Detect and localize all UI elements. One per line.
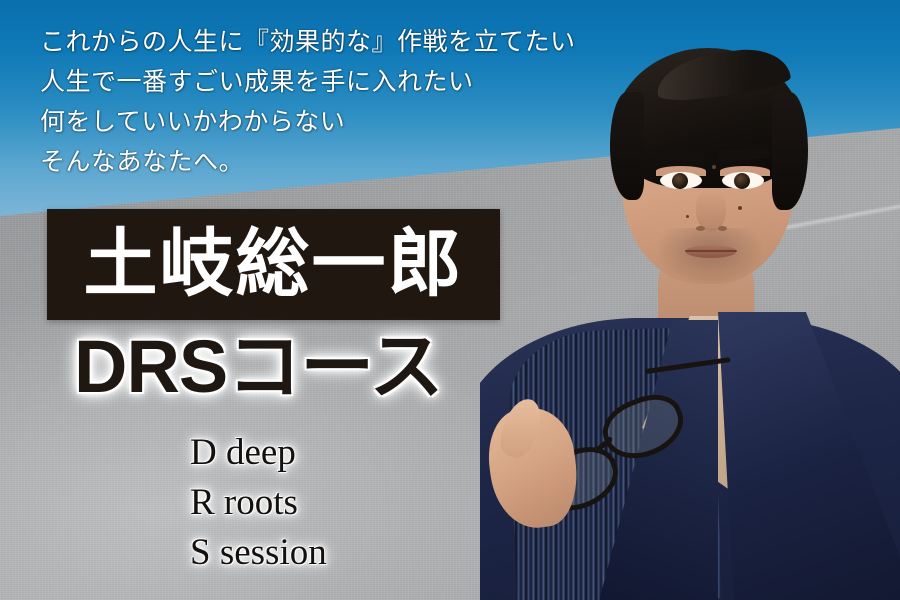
portrait-mole-cheek-left	[686, 215, 689, 218]
portrait-lip-line	[685, 250, 737, 252]
course-acronym-list: D deep R roots S session	[190, 428, 327, 578]
portrait-nostril-left	[696, 226, 705, 231]
portrait-mouth	[686, 246, 736, 258]
portrait-iris-right	[734, 173, 750, 189]
presenter-name: 土岐総一郎	[84, 228, 464, 302]
portrait-eye-right	[722, 172, 764, 189]
acronym-item-s: S session	[190, 528, 327, 578]
portrait-eye-left	[660, 172, 702, 189]
portrait-hair-side-right	[772, 92, 808, 210]
course-title: DRSコース	[74, 330, 443, 404]
portrait-hair-side-left	[610, 92, 644, 200]
promo-banner: これからの人生に『効果的な』作戦を立てたい 人生で一番すごい成果を手に入れたい …	[0, 0, 900, 600]
portrait-nostril-right	[718, 226, 727, 231]
portrait-mole-upper	[712, 165, 716, 169]
acronym-item-r: R roots	[190, 478, 327, 528]
presenter-portrait	[480, 0, 900, 600]
presenter-nameplate: 土岐総一郎	[47, 209, 500, 320]
portrait-iris-left	[672, 173, 688, 189]
acronym-item-d: D deep	[190, 428, 327, 478]
portrait-mole-cheek-right	[738, 206, 742, 210]
